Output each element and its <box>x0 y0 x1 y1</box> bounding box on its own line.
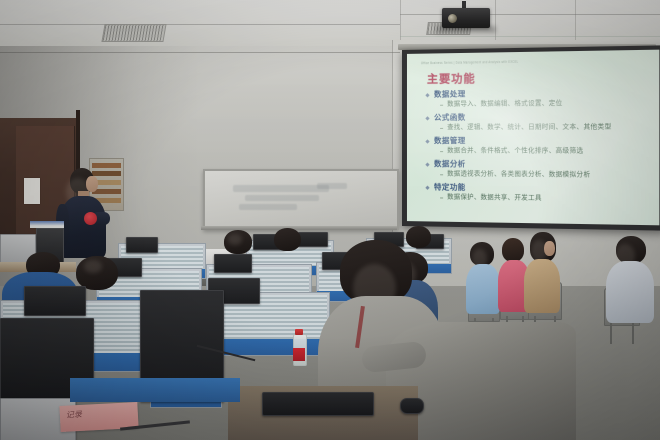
slide-body: 数据处理 数据导入、数据编辑、格式设置、定位 公式函数 查找、逻辑、数学、统计、… <box>425 88 651 209</box>
shirt-logo <box>84 212 97 225</box>
presentation-slide: Office Business Series | Data Management… <box>407 50 659 226</box>
slide-section-detail: 数据透视表分析、各类图表分析、数据模拟分析 <box>425 169 651 180</box>
foreground-monitor <box>24 286 86 316</box>
slide-section: 公式函数 查找、逻辑、数学、统计、日期时间、文本、其他类型 <box>425 112 651 132</box>
keyboard-dark <box>262 392 374 416</box>
ceiling-vent-left <box>101 24 166 42</box>
podium-papers <box>30 221 64 228</box>
student-row-back <box>222 230 256 270</box>
bottle-cap-icon <box>295 329 303 335</box>
student-light-blue-top <box>466 264 500 314</box>
mouse <box>400 398 424 414</box>
slide-section-detail: 数据保护、数据共享、开发工具 <box>425 192 651 204</box>
student-light-blue <box>466 242 502 312</box>
projection-screen[interactable]: Office Business Series | Data Management… <box>402 45 660 230</box>
student-monitor <box>126 237 158 253</box>
slide-header: Office Business Series | Data Management… <box>421 58 648 66</box>
slide-section: 特定功能 数据保护、数据共享、开发工具 <box>425 182 651 204</box>
projector-lens-icon <box>448 14 457 23</box>
whiteboard <box>203 169 399 230</box>
slide-section-heading: 公式函数 <box>425 112 651 123</box>
desk-blue-panel <box>70 378 240 402</box>
slide-section-detail: 数据导入、数据编辑、格式设置、定位 <box>425 98 651 109</box>
slide-section-detail: 数据合并、条件格式、个性化排序、高级筛选 <box>425 146 651 156</box>
slide-section-detail: 查找、逻辑、数学、统计、日期时间、文本、其他类型 <box>425 122 651 132</box>
desk-pink-note-text: 记录 <box>66 409 83 421</box>
student-row-back <box>272 228 304 268</box>
student-white-shirt <box>606 236 656 320</box>
slide-section: 数据分析 数据透视表分析、各类图表分析、数据模拟分析 <box>425 159 651 180</box>
student-tan-jacket-body <box>524 259 560 313</box>
slide-title: 主要功能 <box>427 70 476 87</box>
posted-notice <box>24 178 40 204</box>
classroom-photo: Office Business Series | Data Management… <box>0 0 660 440</box>
student-tan-jacket <box>524 232 564 310</box>
bottle-label <box>293 348 305 361</box>
slide-section: 数据管理 数据合并、条件格式、个性化排序、高级筛选 <box>425 136 651 156</box>
slide-section: 数据处理 数据导入、数据编辑、格式设置、定位 <box>425 88 651 109</box>
student-white-shirt-body <box>606 261 654 323</box>
slide-section-heading: 数据管理 <box>425 136 651 147</box>
